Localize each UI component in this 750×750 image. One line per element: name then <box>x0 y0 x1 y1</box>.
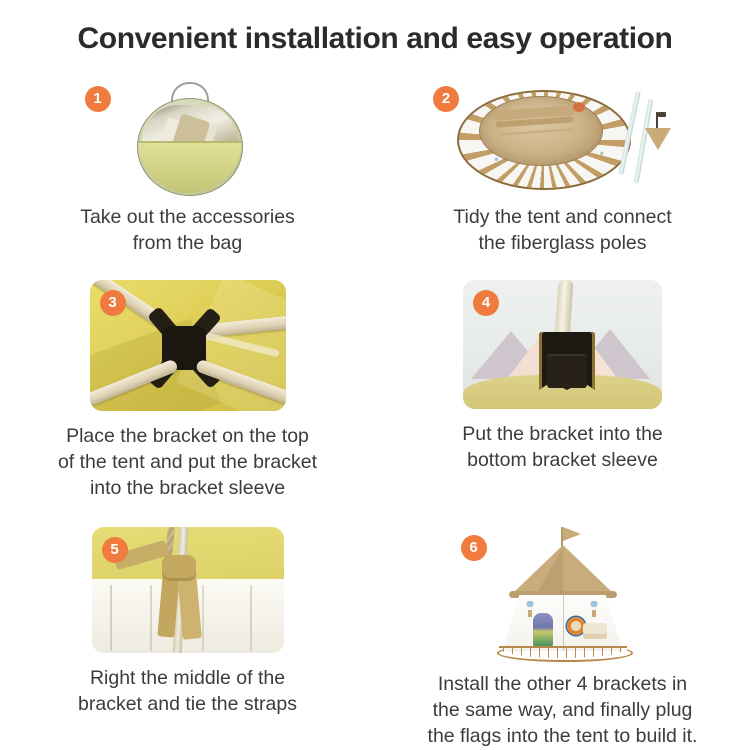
tent-dreamcatcher-decor-1 <box>525 601 535 615</box>
step-caption-4: Put the bracket into the bottom bracket … <box>375 421 750 473</box>
step-badge-5: 5 <box>102 537 128 563</box>
page-title: Convenient installation and easy operati… <box>0 22 750 56</box>
step-badge-6: 6 <box>461 535 487 561</box>
tent-conical-roof <box>513 545 613 593</box>
step-caption-6: Install the other 4 brackets in the same… <box>375 671 750 749</box>
tent-top-flag <box>563 527 581 541</box>
step-caption-1: Take out the accessories from the bag <box>0 204 375 256</box>
bag-body <box>137 98 243 196</box>
step-row-2: 3 Pla <box>0 280 750 501</box>
bracket-sleeve-pocket <box>547 354 587 388</box>
step-card-2: 2 Tidy the ten <box>375 82 750 256</box>
finished-tent-icon <box>487 527 639 659</box>
steps-grid: 1 Take out the accessories from the bag <box>0 82 750 749</box>
step-2-image: 2 <box>455 82 670 194</box>
step-row-1: 1 Take out the accessories from the bag <box>0 82 750 256</box>
step-card-6: 6 <box>375 527 750 749</box>
step-badge-2: 2 <box>433 86 459 112</box>
tent-flag-piece <box>645 128 671 150</box>
step-badge-3: 3 <box>100 290 126 316</box>
round-carry-bag-icon <box>123 82 253 194</box>
tent-body-seam <box>563 595 565 651</box>
step-caption-3: Place the bracket on the top of the tent… <box>0 423 375 501</box>
strap-knot <box>162 555 196 581</box>
step-card-1: 1 Take out the accessories from the bag <box>0 82 375 256</box>
tent-lion-illustration <box>567 617 585 635</box>
step-4-image: 4 <box>463 280 662 409</box>
tent-orange-marker <box>573 102 585 112</box>
step-badge-1: 1 <box>85 86 111 112</box>
step-6-image: 6 <box>487 527 639 659</box>
step-caption-5: Right the middle of the bracket and tie … <box>0 665 375 717</box>
step-badge-4: 4 <box>473 290 499 316</box>
bag-flap <box>138 141 242 193</box>
step-5-image: 5 <box>92 527 284 653</box>
step-caption-2: Tidy the tent and connect the fiberglass… <box>375 204 750 256</box>
tent-character-illustration <box>533 613 553 647</box>
step-card-3: 3 Pla <box>0 280 375 501</box>
step-row-3: 5 Right the middle of the bracket and ti… <box>0 527 750 749</box>
installation-guide-infographic: Convenient installation and easy operati… <box>0 0 750 750</box>
flattened-tent-icon <box>455 82 670 194</box>
tent-lion-body-illustration <box>583 623 607 639</box>
tent-dreamcatcher-decor-2 <box>589 601 599 615</box>
step-1-image: 1 <box>123 82 253 194</box>
step-card-4: 4 Put the bracket into the bottom bracke… <box>375 280 750 501</box>
step-card-5: 5 Right the middle of the bracket and ti… <box>0 527 375 749</box>
step-3-image: 3 <box>90 280 286 411</box>
tent-roof-shading <box>537 547 563 593</box>
tent-body-panel <box>503 595 623 651</box>
